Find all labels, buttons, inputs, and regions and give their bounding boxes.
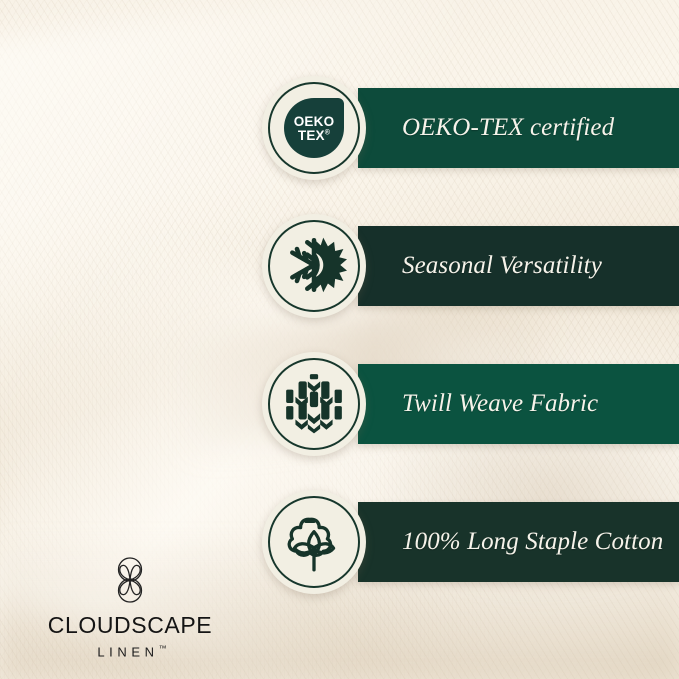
oeko-line-2: TEX® — [298, 129, 330, 143]
twill-weave-icon — [281, 371, 347, 437]
feature-bar: Twill Weave Fabric — [358, 364, 679, 444]
trademark-symbol: ™ — [159, 644, 167, 653]
feature-row: Twill Weave Fabric — [262, 352, 679, 456]
cotton-boll-icon — [281, 509, 347, 575]
feature-label: OEKO-TEX certified — [402, 114, 614, 142]
feature-badge — [262, 352, 366, 456]
brand-sub-text: LINEN — [97, 644, 158, 659]
infographic-canvas: OEKO-TEX certified OEKO TEX® Seasonal Ve — [0, 0, 679, 679]
feature-badge: OEKO TEX® — [262, 76, 366, 180]
oeko-tex-seal-text: OEKO TEX® — [283, 97, 345, 159]
feature-bar: OEKO-TEX certified — [358, 88, 679, 168]
feature-bar: 100% Long Staple Cotton — [358, 502, 679, 582]
feature-label: Seasonal Versatility — [402, 252, 602, 280]
feature-row: 100% Long Staple Cotton — [262, 490, 679, 594]
double-circle-petal-logo-icon — [109, 554, 151, 606]
oeko-line-1: OEKO — [294, 115, 335, 129]
feature-row: Seasonal Versatility — [262, 214, 679, 318]
oeko-tex-seal-icon: OEKO TEX® — [283, 97, 345, 159]
feature-badge — [262, 214, 366, 318]
feature-label: Twill Weave Fabric — [402, 390, 598, 418]
snowflake-sun-icon — [281, 233, 347, 299]
feature-badge — [262, 490, 366, 594]
brand-subtitle: LINEN™ — [36, 644, 224, 659]
feature-row: OEKO-TEX certified OEKO TEX® — [262, 76, 679, 180]
brand-name: CLOUDSCAPE — [36, 614, 224, 637]
feature-bar: Seasonal Versatility — [358, 226, 679, 306]
brand-logo: CLOUDSCAPE LINEN™ — [36, 554, 224, 659]
feature-label: 100% Long Staple Cotton — [402, 528, 663, 556]
